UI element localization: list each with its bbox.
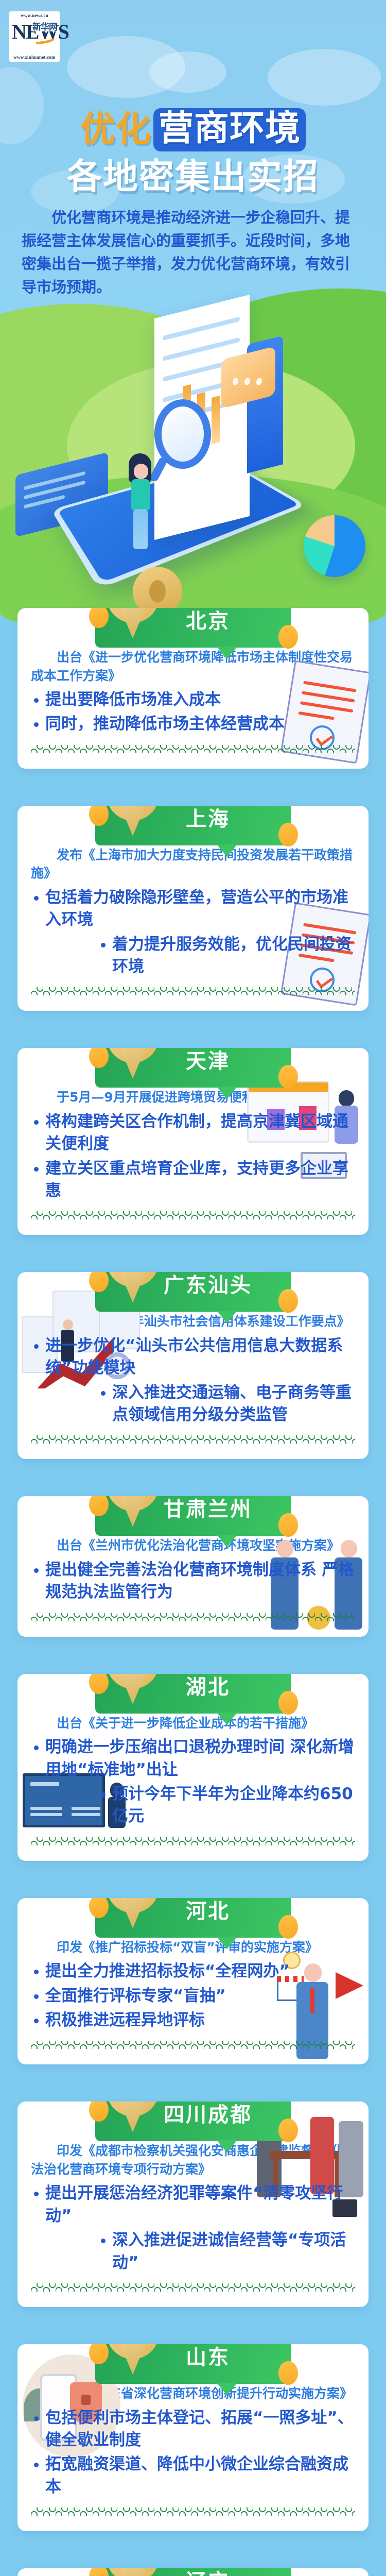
tag-box: 广东汕头 (95, 1272, 291, 1312)
province-card: 辽宁印发《辽宁省营商环境质量提升行动实施方案》提出推进重点领域改革；降低经营成本… (17, 2568, 369, 2576)
orange-dot-icon (278, 2119, 298, 2142)
policy-document-title: 出台《进一步优化营商环境降低市场主体制度性交易成本工作方案》 (31, 648, 355, 685)
policy-bullet: 预计今年下半年为企业降本约650亿元 (98, 1783, 355, 1828)
province-tag: 河北 (95, 1898, 291, 1938)
province-tag: 天津 (95, 1048, 291, 1088)
province-tag: 山东 (95, 2344, 291, 2384)
orange-dot-icon (89, 1048, 109, 1068)
province-card: 山东印发《山东省深化营商环境创新提升行动实施方案》包括便利市场主体登记、拓展“一… (17, 2344, 369, 2531)
orange-dot-icon (278, 2361, 298, 2385)
province-section: 北京出台《进一步优化营商环境降低市场主体制度性交易成本工作方案》提出要降低市场准… (0, 608, 386, 769)
sections-list: 北京出台《进一步优化营商环境降低市场主体制度性交易成本工作方案》提出要降低市场准… (0, 0, 386, 2576)
province-name: 山东 (186, 2344, 230, 2370)
policy-document-title: 印发《推广招标投标“双盲”评审的实施方案》 (31, 1938, 355, 1957)
province-name: 四川成都 (164, 2102, 252, 2128)
province-card: 湖北出台《关于进一步降低企业成本的若干措施》明确进一步压缩出口退税办理时间 深化… (17, 1674, 369, 1861)
orange-dot-icon (89, 608, 109, 628)
policy-bullet: 将构建跨关区合作机制，提高京津冀区域通关便利度 (31, 1111, 355, 1156)
policy-bullet: 拓宽融资渠道、降低中小微企业综合融资成本 (31, 2453, 355, 2498)
province-name: 辽宁 (186, 2568, 230, 2576)
policy-bullet-list: 提出开展惩治经济犯罪等案件“清零攻坚行动”深入推进促进诚信经营等“专项活动” (31, 2182, 355, 2274)
policy-bullet: 提出健全完善法治化营商环境制度体系 严格规范执法监管行为 (31, 1559, 355, 1604)
policy-bullet: 提出开展惩治经济犯罪等案件“清零攻坚行动” (31, 2182, 355, 2227)
province-card: 广东汕头印发《2023年汕头市社会信用体系建设工作要点》进一步优化“汕头市公共信… (17, 1272, 369, 1459)
policy-bullet: 全面推行评标专家“盲抽” (31, 1985, 355, 2007)
policy-bullet: 着力提升服务效能，优化民间投资环境 (98, 934, 355, 978)
policy-bullet-list: 包括着力破除隐形壁垒，营造公平的市场准入环境着力提升服务效能，优化民间投资环境 (31, 887, 355, 978)
province-name: 上海 (186, 806, 230, 832)
policy-document-title: 出台《关于进一步降低企业成本的若干措施》 (31, 1714, 355, 1733)
province-section: 广东汕头印发《2023年汕头市社会信用体系建设工作要点》进一步优化“汕头市公共信… (0, 1272, 386, 1459)
map-pin-icon (107, 1496, 159, 1527)
policy-document-title: 印发《2023年汕头市社会信用体系建设工作要点》 (31, 1312, 355, 1331)
province-card: 四川成都印发《成都市检察机关强化安商惠企法律监督 优化法治化营商环境专项行动方案… (17, 2102, 369, 2307)
policy-bullet: 进一步优化“汕头市公共信用信息大数据系统”功能模块 (31, 1335, 355, 1380)
squiggle-divider (31, 987, 355, 995)
policy-bullet: 明确进一步压缩出口退税办理时间 深化新增用地“标准地”出让 (31, 1736, 355, 1781)
orange-dot-icon (278, 1513, 298, 1537)
policy-bullet-list: 明确进一步压缩出口退税办理时间 深化新增用地“标准地”出让预计今年下半年为企业降… (31, 1736, 355, 1828)
policy-document-title: 于5月—9月开展促进跨境贸易便利化专项行动 (31, 1088, 355, 1107)
map-pin-icon (107, 2568, 159, 2576)
province-name: 甘肃兰州 (164, 1496, 252, 1522)
orange-dot-icon (89, 2568, 109, 2576)
province-card: 上海发布《上海市加大力度支持民间投资发展若干政策措施》包括着力破除隐形壁垒，营造… (17, 806, 369, 1011)
orange-dot-icon (89, 1496, 109, 1516)
squiggle-divider (31, 1837, 355, 1845)
policy-bullet-list: 将构建跨关区合作机制，提高京津冀区域通关便利度建立关区重点培育企业库，支持更多企… (31, 1111, 355, 1202)
orange-dot-icon (89, 1898, 109, 1918)
policy-bullet-list: 包括便利市场主体登记、拓展“一照多址”、健全歇业制度拓宽融资渠道、降低中小微企业… (31, 2407, 355, 2499)
policy-bullet: 积极推进远程异地评标 (31, 2009, 355, 2031)
tag-box: 四川成都 (95, 2102, 291, 2141)
tag-box: 辽宁 (95, 2568, 291, 2576)
squiggle-divider (31, 2507, 355, 2516)
policy-bullet: 提出全力推进招标投标“全程网办” (31, 1960, 355, 1982)
tag-box: 河北 (95, 1898, 291, 1938)
squiggle-divider (31, 2041, 355, 2049)
province-card: 河北印发《推广招标投标“双盲”评审的实施方案》提出全力推进招标投标“全程网办”全… (17, 1898, 369, 2065)
orange-dot-icon (89, 1272, 109, 1292)
province-card: 甘肃兰州出台《兰州市优化法治化营商环境攻坚实施方案》提出健全完善法治化营商环境制… (17, 1496, 369, 1636)
policy-bullet: 包括便利市场主体登记、拓展“一照多址”、健全歇业制度 (31, 2407, 355, 2452)
policy-document-title: 印发《成都市检察机关强化安商惠企法律监督 优化法治化营商环境专项行动方案》 (31, 2142, 355, 2178)
policy-document-title: 印发《山东省深化营商环境创新提升行动实施方案》 (31, 2384, 355, 2403)
tag-box: 天津 (95, 1048, 291, 1088)
policy-document-title: 发布《上海市加大力度支持民间投资发展若干政策措施》 (31, 846, 355, 883)
orange-dot-icon (278, 1691, 298, 1715)
province-name: 河北 (186, 1898, 230, 1924)
policy-bullet-list: 提出要降低市场准入成本同时，推动降低市场主体经营成本 (31, 689, 355, 736)
province-tag: 广东汕头 (95, 1272, 291, 1312)
map-pin-icon (107, 1898, 159, 1928)
orange-dot-icon (89, 806, 109, 826)
policy-bullet-list: 进一步优化“汕头市公共信用信息大数据系统”功能模块深入推进交通运输、电子商务等重… (31, 1335, 355, 1427)
province-tag: 北京 (95, 608, 291, 648)
province-section: 天津于5月—9月开展促进跨境贸易便利化专项行动将构建跨关区合作机制，提高京津冀区… (0, 1048, 386, 1235)
infographic-page: www.news.cn NEWS 新华网 www.xinhuanet.com 优… (0, 0, 386, 2576)
map-pin-icon (107, 1272, 159, 1302)
policy-bullet-list: 提出全力推进招标投标“全程网办”全面推行评标专家“盲抽”积极推进远程异地评标 (31, 1960, 355, 2031)
province-section: 甘肃兰州出台《兰州市优化法治化营商环境攻坚实施方案》提出健全完善法治化营商环境制… (0, 1496, 386, 1636)
province-tag: 湖北 (95, 1674, 291, 1714)
province-tag: 上海 (95, 806, 291, 846)
province-name: 天津 (186, 1048, 230, 1074)
map-pin-icon (107, 608, 159, 638)
province-name: 广东汕头 (164, 1272, 252, 1298)
orange-dot-icon (89, 1674, 109, 1694)
province-tag: 甘肃兰州 (95, 1496, 291, 1536)
province-section: 山东印发《山东省深化营商环境创新提升行动实施方案》包括便利市场主体登记、拓展“一… (0, 2344, 386, 2531)
squiggle-divider (31, 1613, 355, 1621)
map-pin-icon (107, 806, 159, 836)
tag-box: 湖北 (95, 1674, 291, 1714)
orange-dot-icon (278, 823, 298, 846)
province-name: 湖北 (186, 1674, 230, 1700)
tag-box: 山东 (95, 2344, 291, 2384)
tag-box: 上海 (95, 806, 291, 845)
map-pin-icon (107, 2102, 159, 2132)
tag-box: 北京 (95, 608, 291, 648)
policy-bullet: 深入推进交通运输、电子商务等重点领域信用分级分类监管 (98, 1382, 355, 1427)
policy-document-title: 出台《兰州市优化法治化营商环境攻坚实施方案》 (31, 1536, 355, 1555)
map-pin-icon (107, 2344, 159, 2375)
province-name: 北京 (186, 608, 230, 634)
tag-box: 甘肃兰州 (95, 1496, 291, 1536)
policy-bullet: 同时，推动降低市场主体经营成本 (31, 713, 355, 735)
orange-dot-icon (278, 1289, 298, 1313)
squiggle-divider (31, 1435, 355, 1444)
province-section: 湖北出台《关于进一步降低企业成本的若干措施》明确进一步压缩出口退税办理时间 深化… (0, 1674, 386, 1861)
map-pin-icon (107, 1048, 159, 1078)
squiggle-divider (31, 745, 355, 753)
squiggle-divider (31, 1211, 355, 1219)
province-card: 天津于5月—9月开展促进跨境贸易便利化专项行动将构建跨关区合作机制，提高京津冀区… (17, 1048, 369, 1235)
province-section: 河北印发《推广招标投标“双盲”评审的实施方案》提出全力推进招标投标“全程网办”全… (0, 1898, 386, 2065)
province-section: 四川成都印发《成都市检察机关强化安商惠企法律监督 优化法治化营商环境专项行动方案… (0, 2102, 386, 2307)
map-pin-icon (107, 1674, 159, 1704)
province-section: 辽宁印发《辽宁省营商环境质量提升行动实施方案》提出推进重点领域改革；降低经营成本… (0, 2568, 386, 2576)
orange-dot-icon (89, 2102, 109, 2122)
orange-dot-icon (89, 2344, 109, 2364)
squiggle-divider (31, 2283, 355, 2292)
province-section: 上海发布《上海市加大力度支持民间投资发展若干政策措施》包括着力破除隐形壁垒，营造… (0, 806, 386, 1011)
policy-bullet: 提出要降低市场准入成本 (31, 689, 355, 711)
orange-dot-icon (278, 1065, 298, 1089)
province-tag: 辽宁 (95, 2568, 291, 2576)
province-card: 北京出台《进一步优化营商环境降低市场主体制度性交易成本工作方案》提出要降低市场准… (17, 608, 369, 769)
policy-bullet: 包括着力破除隐形壁垒，营造公平的市场准入环境 (31, 887, 355, 931)
policy-bullet: 建立关区重点培育企业库，支持更多企业享惠 (31, 1158, 355, 1202)
province-tag: 四川成都 (95, 2102, 291, 2142)
policy-bullet: 深入推进促进诚信经营等“专项活动” (98, 2229, 355, 2274)
orange-dot-icon (278, 625, 298, 649)
orange-dot-icon (278, 1915, 298, 1939)
policy-bullet-list: 提出健全完善法治化营商环境制度体系 严格规范执法监管行为 (31, 1559, 355, 1604)
